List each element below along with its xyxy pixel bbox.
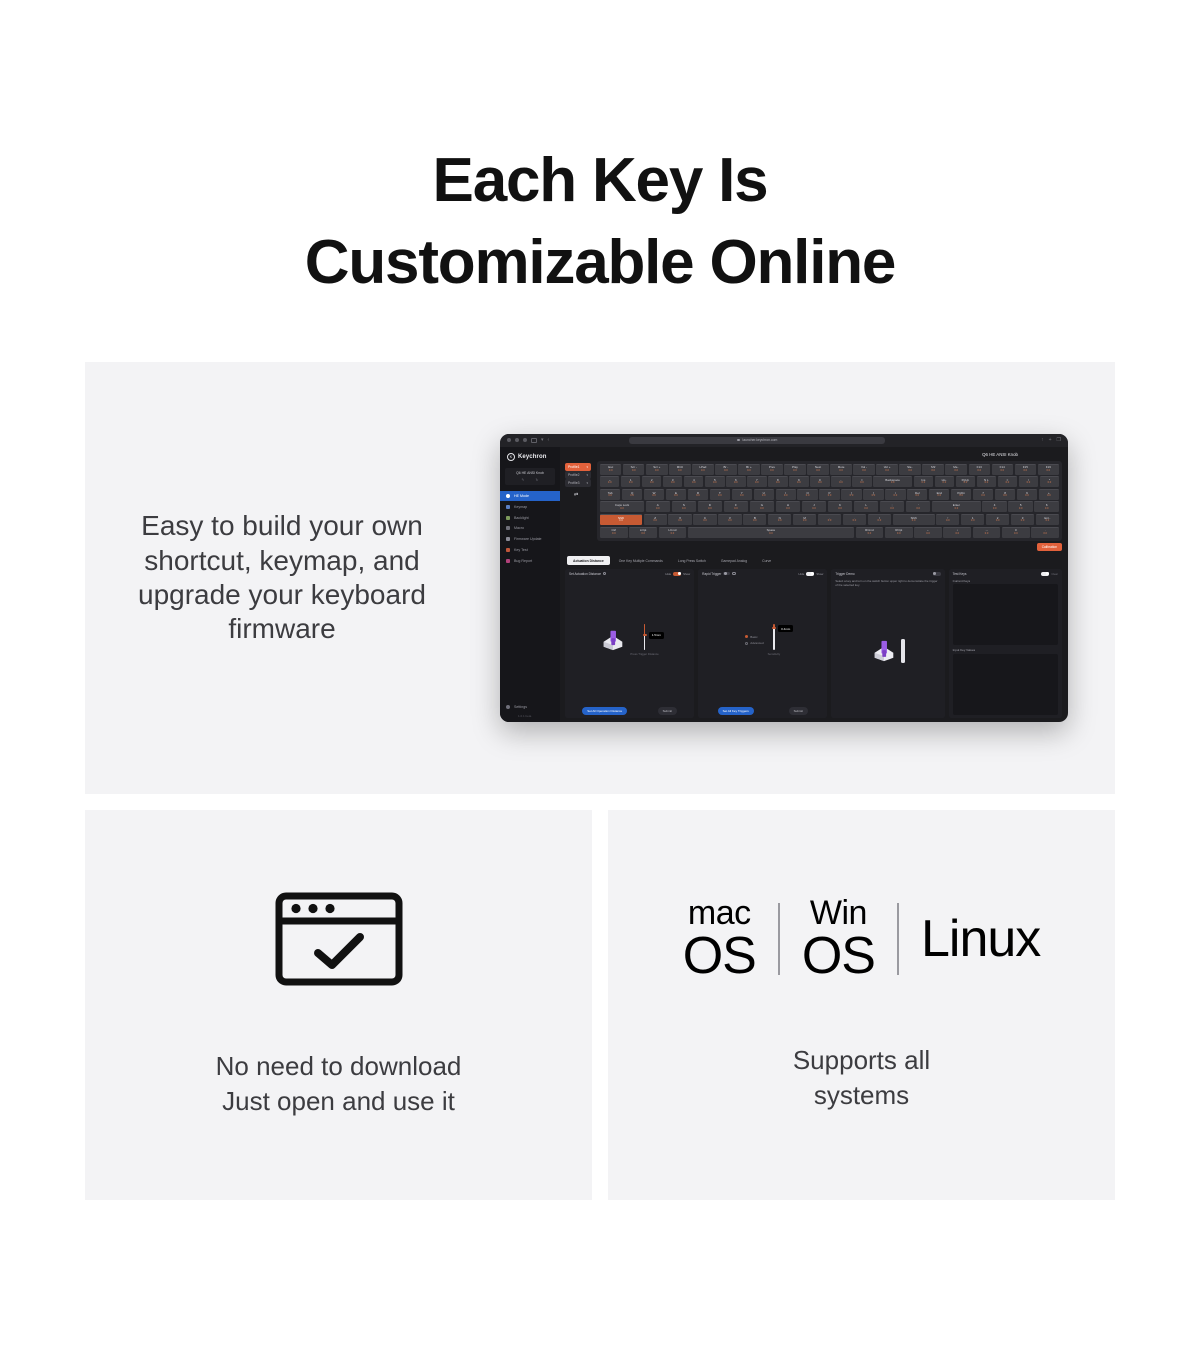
key-8[interactable]: 80.0 [995, 489, 1015, 500]
key-[interactable]: [0.0 [841, 489, 861, 500]
key-actuation-value: 0.0 [816, 470, 820, 473]
key-[interactable]: ,0.0 [818, 514, 841, 525]
panel-trigger-demo-title: Trigger Demo [835, 572, 854, 576]
key-[interactable]: ↑0.0 [936, 514, 959, 525]
key-actuation-value: 0.0 [1047, 495, 1051, 498]
key-Shift[interactable]: Shift0.0 [893, 514, 935, 525]
key-3[interactable]: 30.0 [663, 476, 682, 487]
key-actuation-value: 0.0 [678, 520, 682, 523]
os-logo-linux: Linux [899, 914, 1062, 965]
key-[interactable]: .0.0 [1031, 527, 1059, 538]
key-C[interactable]: C0.0 [693, 514, 716, 525]
key-actuation-value: 0.0 [954, 470, 958, 473]
key-Br[interactable]: Br +0.0 [738, 464, 759, 475]
key-actuation-value: 0.0 [915, 495, 919, 498]
key-[interactable]: -0.0 [831, 476, 850, 487]
key-[interactable]: /0.0 [1019, 476, 1038, 487]
key-Ctrl[interactable]: Ctrl0.0 [600, 527, 628, 538]
key-End[interactable]: End0.0 [929, 489, 949, 500]
key-0[interactable]: 00.0 [810, 476, 829, 487]
key-CapsLock[interactable]: Caps Lock0.0 [600, 501, 644, 512]
tab-actuation-distance[interactable]: Actuation Distance [567, 556, 610, 565]
back-icon[interactable]: ‹ [548, 438, 550, 443]
key-Z[interactable]: Z0.0 [644, 514, 667, 525]
browser-chrome: ▾ ‹ launcher.keychron.com ↑ + ❐ [500, 434, 1068, 447]
panel-trigger-demo-body [835, 587, 940, 715]
key-actuation-value: 0.0 [828, 495, 832, 498]
input-key-values-field[interactable] [953, 654, 1058, 715]
key-actuation-value: 0.0 [931, 470, 935, 473]
key-actuation-value: 0.0 [1023, 470, 1027, 473]
keyboard-title: Q6 HE ANSI Knob [982, 452, 1052, 457]
key-actuation-value: 0.0 [1047, 470, 1051, 473]
url-text: launcher.keychron.com [743, 438, 778, 442]
key-[interactable]: \0.0 [885, 489, 905, 500]
key-F16[interactable]: F160.0 [1038, 464, 1059, 475]
slider-thumb[interactable] [643, 634, 647, 636]
key-8[interactable]: 80.0 [768, 476, 787, 487]
key-actuation-value: 0.0 [755, 482, 759, 485]
key-4[interactable]: 40.0 [684, 476, 703, 487]
feature-card-software: Easy to build your own shortcut, keymap,… [85, 362, 1115, 794]
key-2[interactable]: 20.0 [642, 476, 661, 487]
key-Next[interactable]: Next0.0 [807, 464, 828, 475]
window-close-icon[interactable] [507, 438, 511, 442]
key-[interactable]: '0.0 [906, 501, 930, 512]
keyboard-row: Esc0.0Scr -0.0Scr +0.0MCtl0.0LPad0.0Br -… [600, 464, 1059, 475]
key-LOpt[interactable]: LOpt0.0 [629, 527, 657, 538]
key-actuation-value: 0.0 [803, 520, 807, 523]
key-actuation-value: 0.0 [1006, 482, 1010, 485]
key-actuation-value: 0.0 [701, 470, 705, 473]
key-F[interactable]: F0.0 [724, 501, 748, 512]
panel-test-keys-header: Test Keys Clear [953, 572, 1058, 576]
settings-panels: Set Actuation Distance Hide Show [565, 569, 1062, 718]
key-actuation-value: 0.0 [728, 520, 732, 523]
profile-label: Profile1 [568, 465, 580, 469]
window-minimize-icon[interactable] [515, 438, 519, 442]
key-Backspace[interactable]: Backspace0.0 [873, 476, 912, 487]
sidebar-item-macro[interactable]: Macro [500, 523, 560, 534]
key-actuation-value: 0.0 [682, 508, 686, 511]
key-F15[interactable]: F150.0 [1015, 464, 1036, 475]
rapid-trigger-mode-options: BasicAdvanced [745, 635, 763, 645]
os-logo-small-text: Win [802, 897, 875, 930]
key-Scr[interactable]: Scr -0.0 [623, 464, 644, 475]
os-logo-small-text: mac [683, 897, 756, 930]
key-X[interactable]: X0.0 [668, 514, 691, 525]
key-actuation-value: 0.0 [650, 482, 654, 485]
key-5[interactable]: 50.0 [705, 476, 724, 487]
page-title: Each Key Is Customizable Online [0, 0, 1200, 304]
radio-icon[interactable] [745, 635, 748, 638]
virtual-keyboard[interactable]: Esc0.0Scr -0.0Scr +0.0MCtl0.0LPad0.0Br -… [597, 461, 1062, 541]
profile-label: Profile3 [568, 481, 580, 485]
brand-name: Keychron [518, 454, 546, 460]
key-actuation-value: 0.0 [1027, 482, 1031, 485]
key-actuation-value: 0.0 [1048, 482, 1052, 485]
key-actuation-value: 0.0 [797, 482, 801, 485]
key-4[interactable]: 40.0 [982, 501, 1006, 512]
cards-container: Easy to build your own shortcut, keymap,… [85, 304, 1115, 1200]
os-support-caption: Supports all systems [793, 1043, 930, 1112]
rapid-option-basic[interactable]: Basic [745, 635, 763, 639]
sidebar-item-label: Backlight [514, 516, 529, 520]
page-title-line-1: Each Key Is [0, 140, 1200, 222]
actuation-slider-group: 1.5mm Press Trigger Distance [630, 624, 658, 656]
sidebar-nav: HE ModeKeymapBacklightMacroFirmware Upda… [500, 491, 560, 566]
current-keys-field[interactable] [953, 584, 1058, 645]
key-[interactable]: .0.0 [843, 514, 866, 525]
key-actuation-value: 0.0 [996, 520, 1000, 523]
key-actuation-value: 0.0 [839, 470, 843, 473]
backlight-icon [506, 516, 510, 520]
key-actuation-value: 0.0 [734, 508, 738, 511]
key-Prev[interactable]: Prev0.0 [761, 464, 782, 475]
panel-test-keys: Test Keys Clear Current Keys Input Key V… [949, 569, 1062, 718]
toggle-switch[interactable] [806, 572, 814, 576]
sidebar-footer: Settings 1.0.1 beta [500, 702, 560, 722]
key-actuation-value: 0.0 [778, 520, 782, 523]
set-all-key-triggers-button[interactable]: Set All Key Triggers [718, 707, 754, 715]
key-Enter[interactable]: Enter0.0 [932, 501, 981, 512]
device-actions: ✎ ↻ [507, 478, 553, 482]
key-[interactable]: +0.0 [1039, 489, 1059, 500]
keyboard-row: Shift0.0Z0.0X0.0C0.0V0.0B0.0N0.0M0.0,0.0… [600, 514, 1059, 525]
key-Vol[interactable]: Vol +0.0 [876, 464, 897, 475]
os-logo-win: WinOS [780, 897, 897, 981]
profile-profile1[interactable]: Profile1▾ [565, 463, 591, 471]
set-all-operation-distance-button[interactable]: Set All Operation Distance [582, 707, 627, 715]
key-M[interactable]: M0.0 [793, 514, 816, 525]
gear-icon [506, 705, 510, 709]
feature-card-os-support: macOSWinOSLinux Supports all systems [608, 810, 1115, 1200]
panel-test-keys-title: Test Keys [953, 572, 967, 576]
sidebar-toggle-icon[interactable] [531, 438, 537, 443]
key-Scr[interactable]: Scr +0.0 [646, 464, 667, 475]
key-H[interactable]: H0.0 [776, 501, 800, 512]
actuation-slider[interactable]: 1.5mm [644, 624, 646, 650]
profile-profile2[interactable]: Profile2▾ [565, 471, 591, 479]
key-[interactable]: /0.0 [868, 514, 891, 525]
chevron-down-icon[interactable]: ▾ [541, 438, 544, 443]
key-ROpt[interactable]: ROpt0.0 [885, 527, 913, 538]
key-actuation-value: 0.0 [678, 470, 682, 473]
key-Shf[interactable]: Shf0.0 [922, 464, 943, 475]
key-V[interactable]: V0.0 [718, 514, 741, 525]
tab-curve[interactable]: Curve [756, 556, 777, 565]
key-actuation-value: 0.0 [760, 508, 764, 511]
key-[interactable]: ←0.0 [914, 527, 942, 538]
app-main: Q6 HE ANSI Knob Profile1▾Profile2▾Profil… [560, 447, 1068, 722]
key-[interactable]: =0.0 [852, 476, 871, 487]
radio-icon[interactable] [745, 642, 748, 645]
key-S[interactable]: S0.0 [672, 501, 696, 512]
key-actuation-value: 0.0 [922, 482, 926, 485]
key-actuation-value: 0.0 [926, 533, 930, 536]
key-9[interactable]: 90.0 [789, 476, 808, 487]
key-U[interactable]: U0.0 [754, 489, 774, 500]
no-download-caption: No need to download Just open and use it [216, 1049, 462, 1118]
key-actuation-value: 0.0 [718, 495, 722, 498]
key-actuation-value: 0.0 [964, 482, 968, 485]
key-actuation-value: 0.0 [1021, 520, 1025, 523]
key-6[interactable]: 60.0 [1034, 501, 1058, 512]
key-actuation-value: 0.0 [655, 470, 659, 473]
key-actuation-value: 0.0 [894, 495, 898, 498]
key-actuation-value: 0.0 [812, 508, 816, 511]
key-NL[interactable]: N L0.0 [977, 476, 996, 487]
actuation-value: 1.5mm [649, 632, 664, 639]
key-actuation-value: 0.0 [747, 470, 751, 473]
keychron-launcher-window: ▾ ‹ launcher.keychron.com ↑ + ❐ [500, 434, 1068, 722]
key-[interactable]: ;0.0 [880, 501, 904, 512]
key-actuation-value: 0.0 [981, 495, 985, 498]
key-actuation-value: 0.0 [885, 470, 889, 473]
key-actuation-value: 0.0 [786, 508, 790, 511]
refresh-icon[interactable]: ↻ [536, 478, 539, 482]
key-RCmd[interactable]: RCmd0.0 [856, 527, 884, 538]
actuation-submit-button[interactable]: Submit [658, 707, 677, 715]
device-selector[interactable]: Q6 HE ANSI Knob ✎ ↻ [505, 468, 555, 485]
key-actuation-value: 0.0 [696, 495, 700, 498]
key-actuation-value: 0.0 [985, 482, 989, 485]
key-I[interactable]: I0.0 [776, 489, 796, 500]
key-[interactable]: =0.0 [998, 476, 1017, 487]
key-MCtl[interactable]: MCtl0.0 [669, 464, 690, 475]
panel-rapid-trigger: Rapid Trigger Hide Show [698, 569, 827, 718]
key-Ent[interactable]: Ent..0.0 [1036, 514, 1059, 525]
window-maximize-icon[interactable] [523, 438, 527, 442]
key-actuation-value: 0.0 [897, 533, 901, 536]
app-screenshot-wrap: ▾ ‹ launcher.keychron.com ↑ + ❐ [465, 434, 1115, 722]
key-A[interactable]: A0.0 [646, 501, 670, 512]
sidebar-item-backlight[interactable]: Backlight [500, 512, 560, 523]
sidebar-item-label-settings: Settings [514, 705, 527, 709]
no-download-caption-line-2: Just open and use it [216, 1084, 462, 1118]
key-3[interactable]: 30.0 [1011, 514, 1034, 525]
key-F13[interactable]: F130.0 [969, 464, 990, 475]
sidebar-item-he-mode[interactable]: HE Mode [500, 491, 560, 502]
sidebar-item-label: HE Mode [514, 494, 529, 498]
rapid-trigger-value: 0.4mm [778, 625, 793, 632]
key-actuation-value: 0.0 [971, 520, 975, 523]
chevron-down-icon[interactable]: ▾ [586, 473, 588, 477]
key-[interactable]: →0.0 [973, 527, 1001, 538]
key-Esc[interactable]: Esc0.0 [600, 464, 621, 475]
key-actuation-value: 0.0 [1019, 508, 1023, 511]
sidebar-item-firmware-update[interactable]: Firmware Update [500, 534, 560, 545]
chrome-right-actions: ↑ + ❐ [1041, 438, 1061, 443]
feature-card-copy: Easy to build your own shortcut, keymap,… [85, 509, 465, 646]
key-E[interactable]: E0.0 [666, 489, 686, 500]
key-Mute[interactable]: Mute0.0 [830, 464, 851, 475]
rapid-option-advanced[interactable]: Advanced [745, 641, 763, 645]
key-O[interactable]: O0.0 [797, 489, 817, 500]
os-support-caption-line-1: Supports all [793, 1043, 930, 1077]
key-Q[interactable]: Q0.0 [622, 489, 642, 500]
key-0[interactable]: 00.0 [1002, 527, 1030, 538]
key-D[interactable]: D0.0 [698, 501, 722, 512]
key-LPad[interactable]: LPad0.0 [692, 464, 713, 475]
key-actuation-value: 0.0 [806, 495, 810, 498]
sidebar-item-label: Bug Report [514, 559, 532, 563]
key-actuation-value: 0.0 [612, 533, 616, 536]
key-actuation-value: 0.0 [908, 470, 912, 473]
keychron-logo-icon: K [507, 453, 515, 461]
sidebar-item-label: Keymap [514, 505, 527, 509]
trigger-demo-level-bar [901, 639, 906, 663]
app-sidebar: K Keychron Q6 HE ANSI Knob ✎ ↻ HE ModeKe… [500, 447, 560, 722]
panel-rapid-trigger-footer: Set All Key Triggers Submit [702, 707, 823, 715]
sidebar-item-keymap[interactable]: Keymap [500, 501, 560, 512]
key-Me[interactable]: Me..0.0 [945, 464, 966, 475]
os-logo-big-text: Linux [921, 914, 1040, 965]
key-[interactable]: *0.0 [1040, 476, 1059, 487]
key-N[interactable]: N0.0 [768, 514, 791, 525]
panel-actuation-footer: Set All Operation Distance Submit [569, 707, 690, 715]
key-7[interactable]: 70.0 [973, 489, 993, 500]
key-Br[interactable]: Br -0.0 [715, 464, 736, 475]
clear-button[interactable]: Clear [1051, 572, 1058, 576]
key-P[interactable]: P0.0 [819, 489, 839, 500]
key-Del[interactable]: Del0.0 [907, 489, 927, 500]
key-6[interactable]: 60.0 [726, 476, 745, 487]
lock-icon [737, 439, 740, 442]
os-logos: macOSWinOSLinux [661, 897, 1063, 981]
test-keys-toggle[interactable] [1041, 572, 1049, 576]
tab-long-press-switch[interactable]: Long Press Switch [672, 556, 712, 565]
bug-report-icon [506, 559, 510, 563]
key-actuation-value: 0.0 [912, 520, 916, 523]
key-actuation-value: 0.0 [753, 520, 757, 523]
key-actuation-value: 0.0 [608, 495, 612, 498]
key-PgDn[interactable]: PgDn0.0 [951, 489, 971, 500]
browser-url-bar[interactable]: launcher.keychron.com [629, 437, 885, 444]
os-support-caption-line-2: systems [793, 1078, 930, 1112]
slider-thumb[interactable] [772, 627, 776, 629]
key-actuation-value: 0.0 [916, 508, 920, 511]
key-actuation-value: 0.0 [1014, 533, 1018, 536]
key-actuation-value: 0.0 [692, 482, 696, 485]
key-actuation-value: 0.0 [620, 508, 624, 511]
key-L[interactable]: L0.0 [854, 501, 878, 512]
key-W[interactable]: W0.0 [644, 489, 664, 500]
key-9[interactable]: 90.0 [1017, 489, 1037, 500]
tab-overview-icon[interactable]: ❐ [1057, 438, 1061, 443]
tab-gamepad-analog[interactable]: Gamepad Analog [715, 556, 753, 565]
key-T[interactable]: T0.0 [710, 489, 730, 500]
key-PgUp[interactable]: PgUp0.0 [956, 476, 975, 487]
profile-swap-icon[interactable]: ⇄ [574, 492, 591, 498]
key-[interactable]: ]0.0 [863, 489, 883, 500]
key-LCmd[interactable]: LCmd0.0 [659, 527, 687, 538]
calibration-button[interactable]: Calibration [1037, 543, 1062, 552]
new-tab-icon[interactable]: + [1049, 438, 1052, 443]
key-actuation-value: 0.0 [740, 495, 744, 498]
page-title-line-2: Customizable Online [0, 222, 1200, 304]
key-Ins[interactable]: Ins0.0 [914, 476, 933, 487]
key-Vol[interactable]: Vol -0.0 [853, 464, 874, 475]
key-actuation-value: 0.0 [653, 520, 657, 523]
key-[interactable]: ↓0.0 [943, 527, 971, 538]
key-actuation-value: 0.0 [878, 520, 882, 523]
key-actuation-value: 0.0 [734, 482, 738, 485]
rapid-option-label: Advanced [750, 641, 763, 645]
key-Tab[interactable]: Tab0.0 [600, 489, 620, 500]
key-1[interactable]: 10.0 [621, 476, 640, 487]
key-7[interactable]: 70.0 [747, 476, 766, 487]
key-actuation-value: 0.0 [1025, 495, 1029, 498]
key-K[interactable]: K0.0 [828, 501, 852, 512]
rapid-submit-button[interactable]: Submit [789, 707, 808, 715]
sidebar-item-settings[interactable]: Settings [506, 702, 554, 713]
key-actuation-value: 0.0 [993, 508, 997, 511]
key-Y[interactable]: Y0.0 [732, 489, 752, 500]
key-Shift[interactable]: Shift0.0 [600, 514, 642, 525]
key-actuation-value: 0.0 [860, 482, 864, 485]
key-Sle[interactable]: Sle..0.0 [899, 464, 920, 475]
key-J[interactable]: J0.0 [802, 501, 826, 512]
key-B[interactable]: B0.0 [743, 514, 766, 525]
share-icon[interactable]: ↑ [1041, 438, 1044, 443]
key-Space[interactable]: Space0.0 [688, 527, 854, 538]
key-Ho[interactable]: Ho..0.0 [935, 476, 954, 487]
settings-tabs: Actuation DistanceOne Key Multiple Comma… [565, 556, 1062, 565]
key-actuation-value: 0.0 [853, 520, 857, 523]
key-actuation-value: 0.0 [674, 495, 678, 498]
panel-actuation-distance: Set Actuation Distance Hide Show [565, 569, 694, 718]
chevron-down-icon[interactable]: ▾ [586, 481, 588, 485]
keyboard-area: Profile1▾Profile2▾Profile3▾ ⇄ Esc0.0Scr … [565, 461, 1062, 552]
trigger-demo-toggle[interactable] [933, 572, 941, 576]
key-5[interactable]: 50.0 [1008, 501, 1032, 512]
sidebar-item-bug-report[interactable]: Bug Report [500, 555, 560, 566]
edit-icon[interactable]: ✎ [521, 478, 524, 482]
chevron-down-icon[interactable]: ▾ [586, 465, 588, 469]
toggle-switch[interactable] [673, 572, 681, 576]
profile-profile3[interactable]: Profile3▾ [565, 479, 591, 487]
key-actuation-value: 0.0 [652, 495, 656, 498]
key-actuation-value: 0.0 [828, 520, 832, 523]
switch-illustration-icon [600, 629, 626, 651]
key-actuation-value: 0.0 [671, 482, 675, 485]
sidebar-item-key-test[interactable]: Key Test [500, 545, 560, 556]
key-actuation-value: 0.0 [943, 482, 947, 485]
keyboard-wrap: Esc0.0Scr -0.0Scr +0.0MCtl0.0LPad0.0Br -… [597, 461, 1062, 552]
rapid-slider[interactable]: 0.4mm [773, 624, 775, 650]
key-actuation-value: 0.0 [1045, 508, 1049, 511]
key-actuation-value: 0.0 [937, 495, 941, 498]
key-G[interactable]: G0.0 [750, 501, 774, 512]
key-actuation-value: 0.0 [839, 482, 843, 485]
keyboard-row: Tab0.0Q0.0W0.0E0.0R0.0T0.0Y0.0U0.0I0.0O0… [600, 489, 1059, 500]
key-F14[interactable]: F140.0 [992, 464, 1013, 475]
key-[interactable]: ~0.0 [600, 476, 619, 487]
key-R[interactable]: R0.0 [688, 489, 708, 500]
key-Play[interactable]: Play0.0 [784, 464, 805, 475]
key-actuation-value: 0.0 [818, 482, 822, 485]
key-actuation-value: 0.0 [708, 508, 712, 511]
tab-one-key-multiple-commands[interactable]: One Key Multiple Commands [613, 556, 669, 565]
key-actuation-value: 0.0 [868, 533, 872, 536]
os-logo-big-text: OS [802, 931, 875, 982]
key-1[interactable]: 10.0 [961, 514, 984, 525]
profile-buttons: Profile1▾Profile2▾Profile3▾ [565, 463, 591, 487]
app-body: K Keychron Q6 HE ANSI Knob ✎ ↻ HE ModeKe… [500, 447, 1068, 722]
key-2[interactable]: 20.0 [986, 514, 1009, 525]
panel-trigger-demo: Trigger Demo Select a key and turn on th… [831, 569, 944, 718]
